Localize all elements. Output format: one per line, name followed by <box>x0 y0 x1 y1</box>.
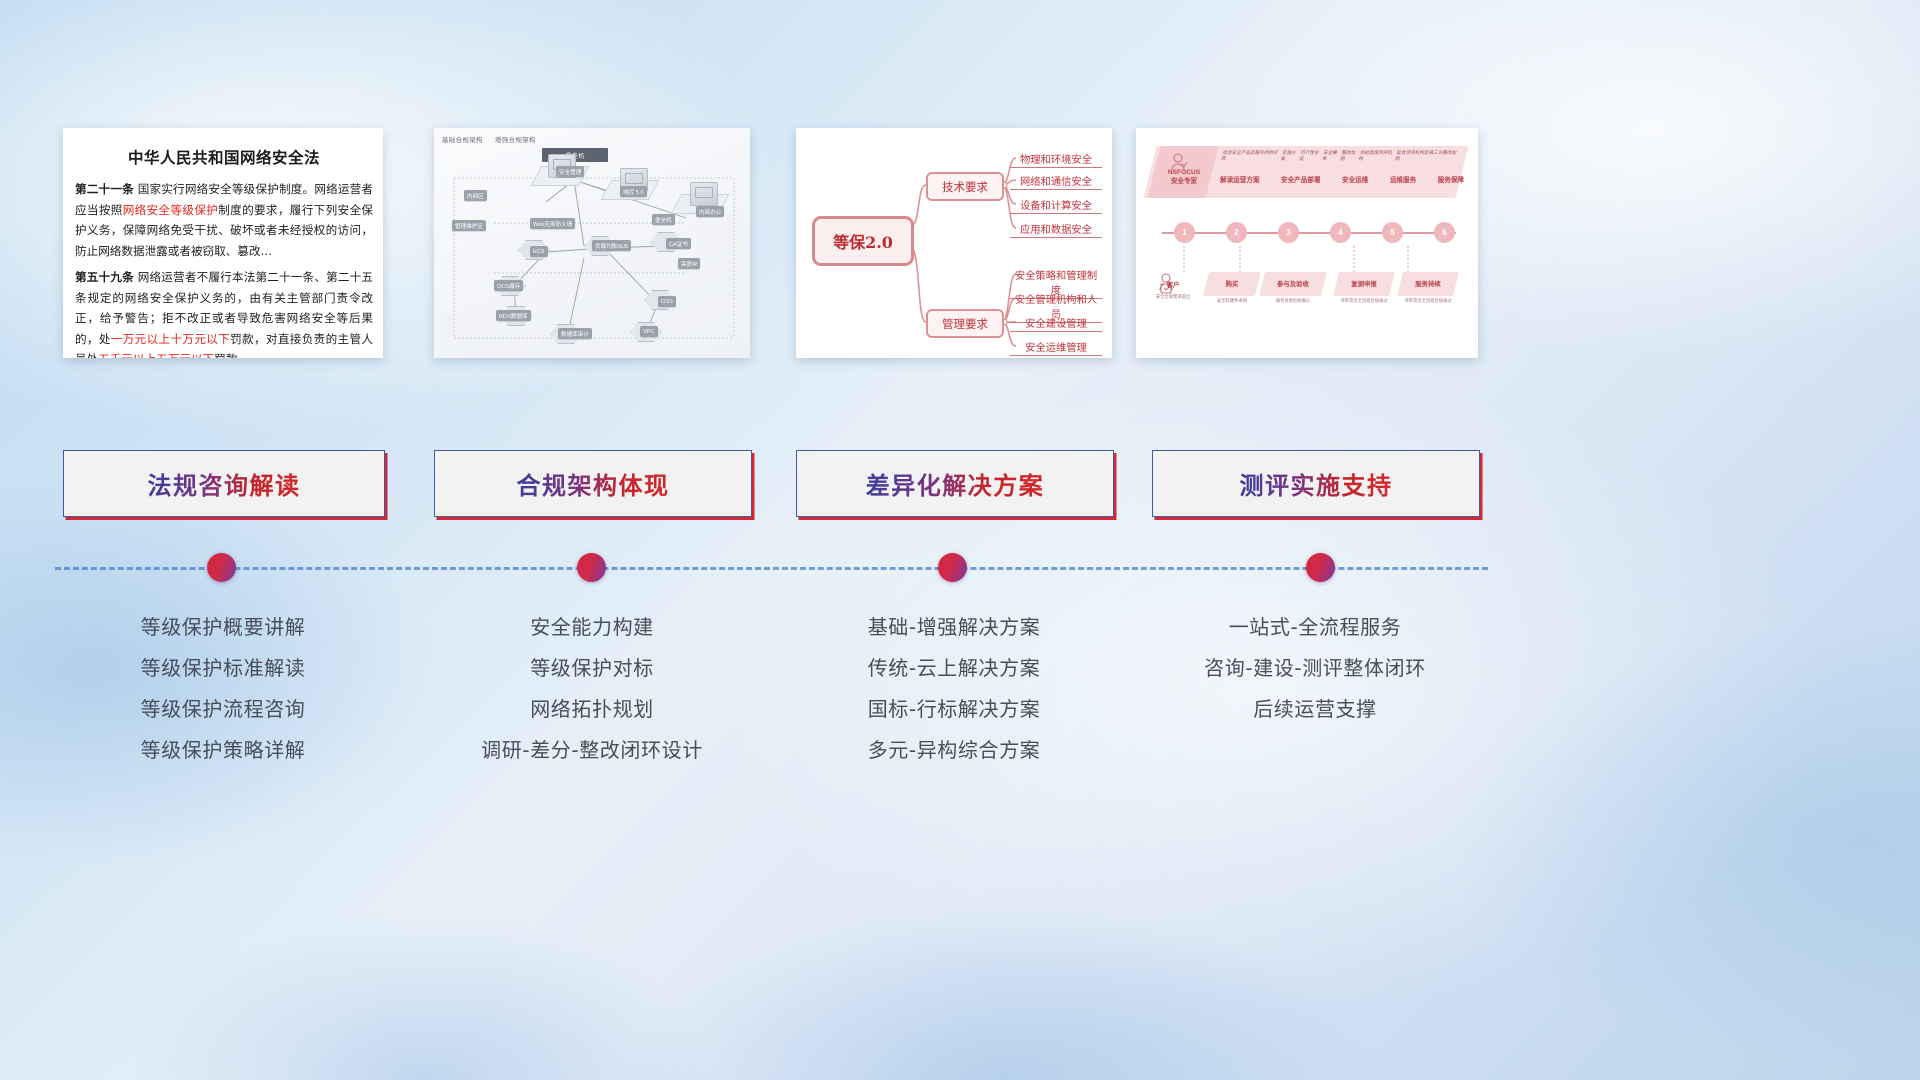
law-highlight-text: 网络安全等级保护 <box>123 203 218 217</box>
arch-node-label: 堡垒机 <box>652 214 675 225</box>
arch-node-label: Web应用防火墙 <box>530 218 575 229</box>
list-item: 等级保护概要讲解 <box>63 607 383 648</box>
column-title-1: 法规咨询解读 <box>148 466 301 501</box>
list-item: 等级保护流程咨询 <box>63 689 383 730</box>
law-highlight-text: 一万元以上十万元以下 <box>111 332 230 346</box>
arch-node-label: RDS数据库 <box>496 310 531 321</box>
law-article-number: 第五十九条 <box>75 270 134 284</box>
arch-node-label: VPC <box>640 326 658 337</box>
arch-node-label: 内部办公 <box>696 206 724 217</box>
law-highlight-text: 五千元以上五万元以下 <box>98 352 214 358</box>
timeline-header-small-item: 信息安全产品及服务的供应商 <box>1221 150 1283 162</box>
timeline-tag-label: 购买 <box>1206 279 1258 288</box>
timeline-brand-sub: 安全专家 <box>1171 178 1197 185</box>
list-item: 网络拓扑规划 <box>426 689 758 730</box>
law-article: 第二十一条 国家实行网络安全等级保护制度。网络运营者应当按照网络安全等级保护制度… <box>75 179 373 261</box>
timeline-header-item: 解读运营方案 <box>1220 174 1260 184</box>
timeline-tag-label: 参与及验收 <box>1262 279 1324 288</box>
timeline-brand-name: NSFOCUS <box>1168 169 1200 176</box>
timeline-step-1[interactable]: 1 <box>1174 222 1195 243</box>
timeline-dot-3[interactable] <box>938 553 967 582</box>
timeline-header-items: 解读运营方案安全产品部署安全运维运维服务服务保障 <box>1220 174 1464 184</box>
timeline-header-item: 安全产品部署 <box>1281 174 1321 184</box>
mindmap-leaf: 物理和环境安全 <box>1010 151 1102 168</box>
service-timeline-card: NSFOCUS 安全专家 信息安全产品及服务的供应商实施方案可行性论证安全要求整… <box>1136 128 1478 358</box>
list-item: 咨询-建设-测评整体闭环 <box>1140 648 1490 689</box>
list-item: 等级保护策略详解 <box>63 730 383 771</box>
timeline-step-4[interactable]: 4 <box>1330 222 1351 243</box>
column-title-4: 测评实施支持 <box>1240 466 1393 501</box>
architecture-card: 基础合规架构 增强合规架构 堡垒机 <box>434 128 750 358</box>
mindmap-leaf: 网络和通信安全 <box>1010 173 1102 190</box>
list-item: 传统-云上解决方案 <box>790 648 1118 689</box>
mindmap-branch-tech: 技术要求 <box>926 172 1004 201</box>
list-item: 基础-增强解决方案 <box>790 607 1118 648</box>
column-list-2: 安全能力构建等级保护对标网络拓扑规划调研-差分-整改闭环设计 <box>426 607 758 771</box>
timeline-client-sub: 安全合规需求提出 <box>1144 294 1202 300</box>
arch-node-label: 内网区 <box>464 190 487 201</box>
timeline-brand: NSFOCUS 安全专家 <box>1158 168 1210 186</box>
arch-node-label: 高防IP <box>678 258 700 269</box>
timeline-tag-sub: 服务效果验收确认 <box>1258 298 1328 304</box>
arch-node-label: 负载均衡SLB <box>592 240 631 251</box>
arch-node-label: OSS <box>658 296 676 307</box>
column-list-3: 基础-增强解决方案传统-云上解决方案国标-行标解决方案多元-异构综合方案 <box>790 607 1118 771</box>
list-item: 调研-差分-整改闭环设计 <box>426 730 758 771</box>
timeline-person-icons <box>1136 128 1478 358</box>
list-item: 安全能力构建 <box>426 607 758 648</box>
arch-node-label: ECS <box>530 246 548 257</box>
list-item: 等级保护对标 <box>426 648 758 689</box>
list-item: 多元-异构综合方案 <box>790 730 1118 771</box>
arch-node-label: 数据库审计 <box>558 328 592 339</box>
mindmap-leaf: 设备和计算安全 <box>1010 197 1102 214</box>
column-title-box-1[interactable]: 法规咨询解读 <box>63 450 385 517</box>
arch-node-label: CA证书 <box>666 238 691 249</box>
timeline-header-small-item: 协助选择测评机构 <box>1358 150 1398 162</box>
timeline-tag-sub: 评审完成全流程合规通过 <box>1396 298 1460 304</box>
timeline-tag-label: 复测申报 <box>1336 279 1392 288</box>
column-title-box-2[interactable]: 合规架构体现 <box>434 450 752 517</box>
timeline-step-2[interactable]: 2 <box>1226 222 1247 243</box>
timeline-step-5[interactable]: 5 <box>1382 222 1403 243</box>
list-item: 国标-行标解决方案 <box>790 689 1118 730</box>
mindmap-leaf: 应用和数据安全 <box>1010 221 1102 238</box>
timeline-tag-label: 服务持续 <box>1400 279 1456 288</box>
timeline-tag-sub: 评审完成全流程合规通过 <box>1332 298 1396 304</box>
law-article-number: 第二十一条 <box>75 182 134 196</box>
arch-node-label: 安全管理 <box>556 166 584 177</box>
law-body-text: 罚款。 <box>214 352 249 358</box>
timeline-header-item: 服务保障 <box>1438 174 1464 184</box>
timeline-header-small-item: 配合测评机构及第三方整改加固 <box>1394 150 1461 162</box>
column-title-box-3[interactable]: 差异化解决方案 <box>796 450 1114 517</box>
timeline-tag-sub: 安全软硬件采购 <box>1202 298 1262 304</box>
timeline-header-small: 信息安全产品及服务的供应商实施方案可行性论证安全要求整改加固协助选择测评机构配合… <box>1221 150 1462 162</box>
timeline-dot-4[interactable] <box>1306 553 1335 582</box>
column-title-box-4[interactable]: 测评实施支持 <box>1152 450 1480 517</box>
list-item: 一站式-全流程服务 <box>1140 607 1490 648</box>
column-title-2: 合规架构体现 <box>517 466 670 501</box>
timeline-dashed-line <box>55 567 1488 570</box>
mindmap-card: 等保2.0 技术要求 管理要求 物理和环境安全网络和通信安全设备和计算安全应用和… <box>796 128 1112 358</box>
mindmap-leaf: 安全运维管理 <box>1010 339 1102 356</box>
law-card: 中华人民共和国网络安全法 第二十一条 国家实行网络安全等级保护制度。网络运营者应… <box>63 128 383 358</box>
list-item: 后续运营支撑 <box>1140 689 1490 730</box>
law-card-title: 中华人民共和国网络安全法 <box>75 146 373 168</box>
law-article: 第五十九条 网络运营者不履行本法第二十一条、第二十五条规定的网络安全保护义务的，… <box>75 267 373 358</box>
timeline-step-6[interactable]: 6 <box>1434 222 1455 243</box>
mindmap-leaf: 安全建设管理 <box>1010 315 1102 332</box>
timeline-client-label: 客户 <box>1156 280 1190 289</box>
column-list-4: 一站式-全流程服务咨询-建设-测评整体闭环后续运营支撑 <box>1140 607 1490 730</box>
timeline-dot-2[interactable] <box>577 553 606 582</box>
timeline-header-item: 安全运维 <box>1342 174 1368 184</box>
arch-node-label: OCS缓存 <box>494 280 523 291</box>
list-item: 等级保护标准解读 <box>63 648 383 689</box>
arch-node-label: 管理维护区 <box>452 220 486 231</box>
timeline-dot-1[interactable] <box>207 553 236 582</box>
timeline-header-small-item: 可行性论证 <box>1298 150 1324 162</box>
arch-node-label: 域控 5.0 <box>620 186 647 197</box>
column-title-3: 差异化解决方案 <box>866 466 1045 501</box>
timeline-header-item: 运维服务 <box>1390 174 1416 184</box>
mindmap-branch-mgmt: 管理要求 <box>926 309 1004 338</box>
mindmap-root: 等保2.0 <box>812 216 914 266</box>
timeline-step-3[interactable]: 3 <box>1278 222 1299 243</box>
column-list-1: 等级保护概要讲解等级保护标准解读等级保护流程咨询等级保护策略详解 <box>63 607 383 771</box>
